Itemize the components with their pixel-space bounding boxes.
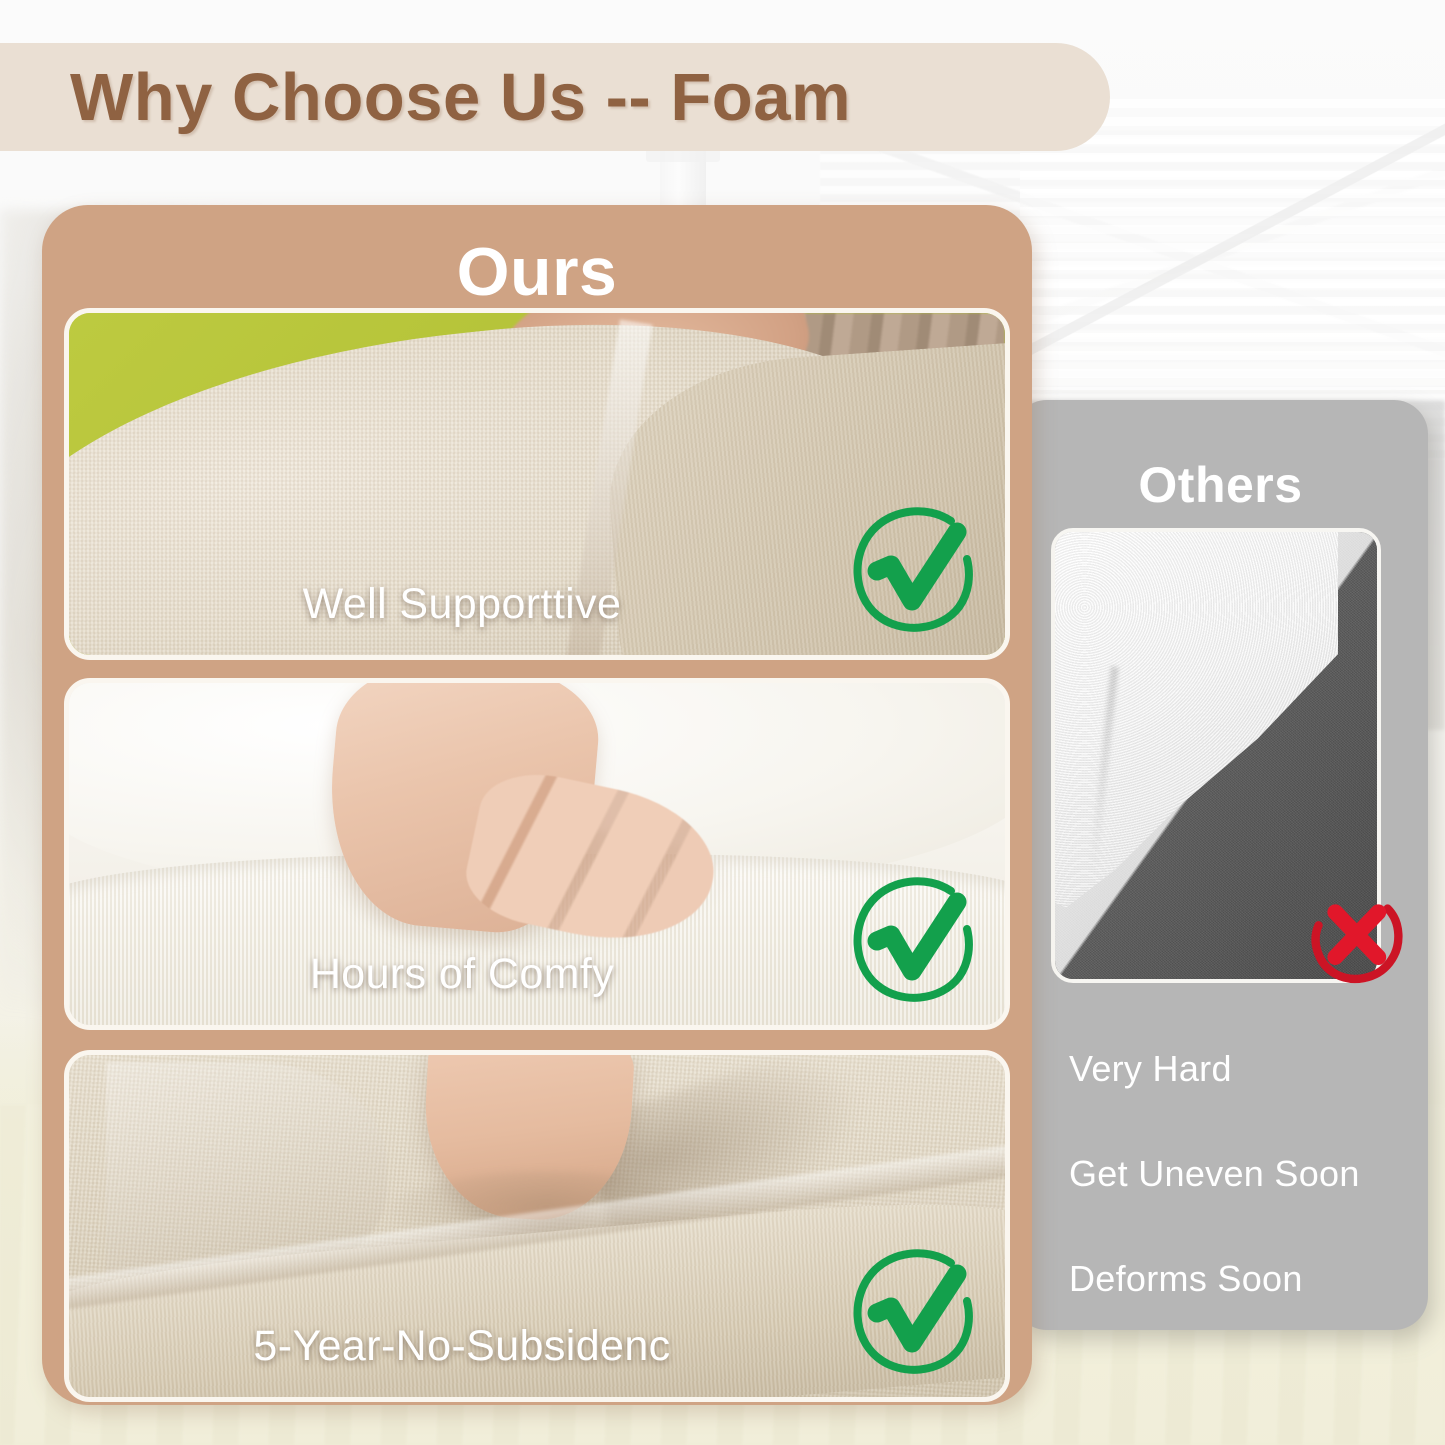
- title-banner: Why Choose Us -- Foam: [0, 43, 1110, 151]
- ours-feature-card: Hours of Comfy: [64, 678, 1010, 1030]
- others-list-item: Deforms Soon: [1069, 1258, 1409, 1300]
- ours-feature-card: Well Supporttive: [64, 308, 1010, 660]
- others-drawback-list: Very Hard Get Uneven Soon Deforms Soon: [1069, 1048, 1409, 1363]
- others-list-item: Get Uneven Soon: [1069, 1153, 1409, 1195]
- ours-panel: Ours Well Supporttive: [42, 205, 1032, 1405]
- green-check-icon: [839, 1239, 989, 1389]
- ours-heading: Ours: [42, 233, 1032, 311]
- page-title: Why Choose Us -- Foam: [70, 59, 851, 136]
- others-panel: Others Very Hard Get Uneven Soon Deforms…: [1013, 400, 1428, 1330]
- others-list-item: Very Hard: [1069, 1048, 1409, 1090]
- green-check-icon: [839, 497, 989, 647]
- red-cross-icon: [1298, 888, 1410, 1000]
- others-heading: Others: [1013, 456, 1428, 514]
- green-check-icon: [839, 867, 989, 1017]
- ours-feature-card: 5-Year-No-Subsidenc: [64, 1050, 1010, 1402]
